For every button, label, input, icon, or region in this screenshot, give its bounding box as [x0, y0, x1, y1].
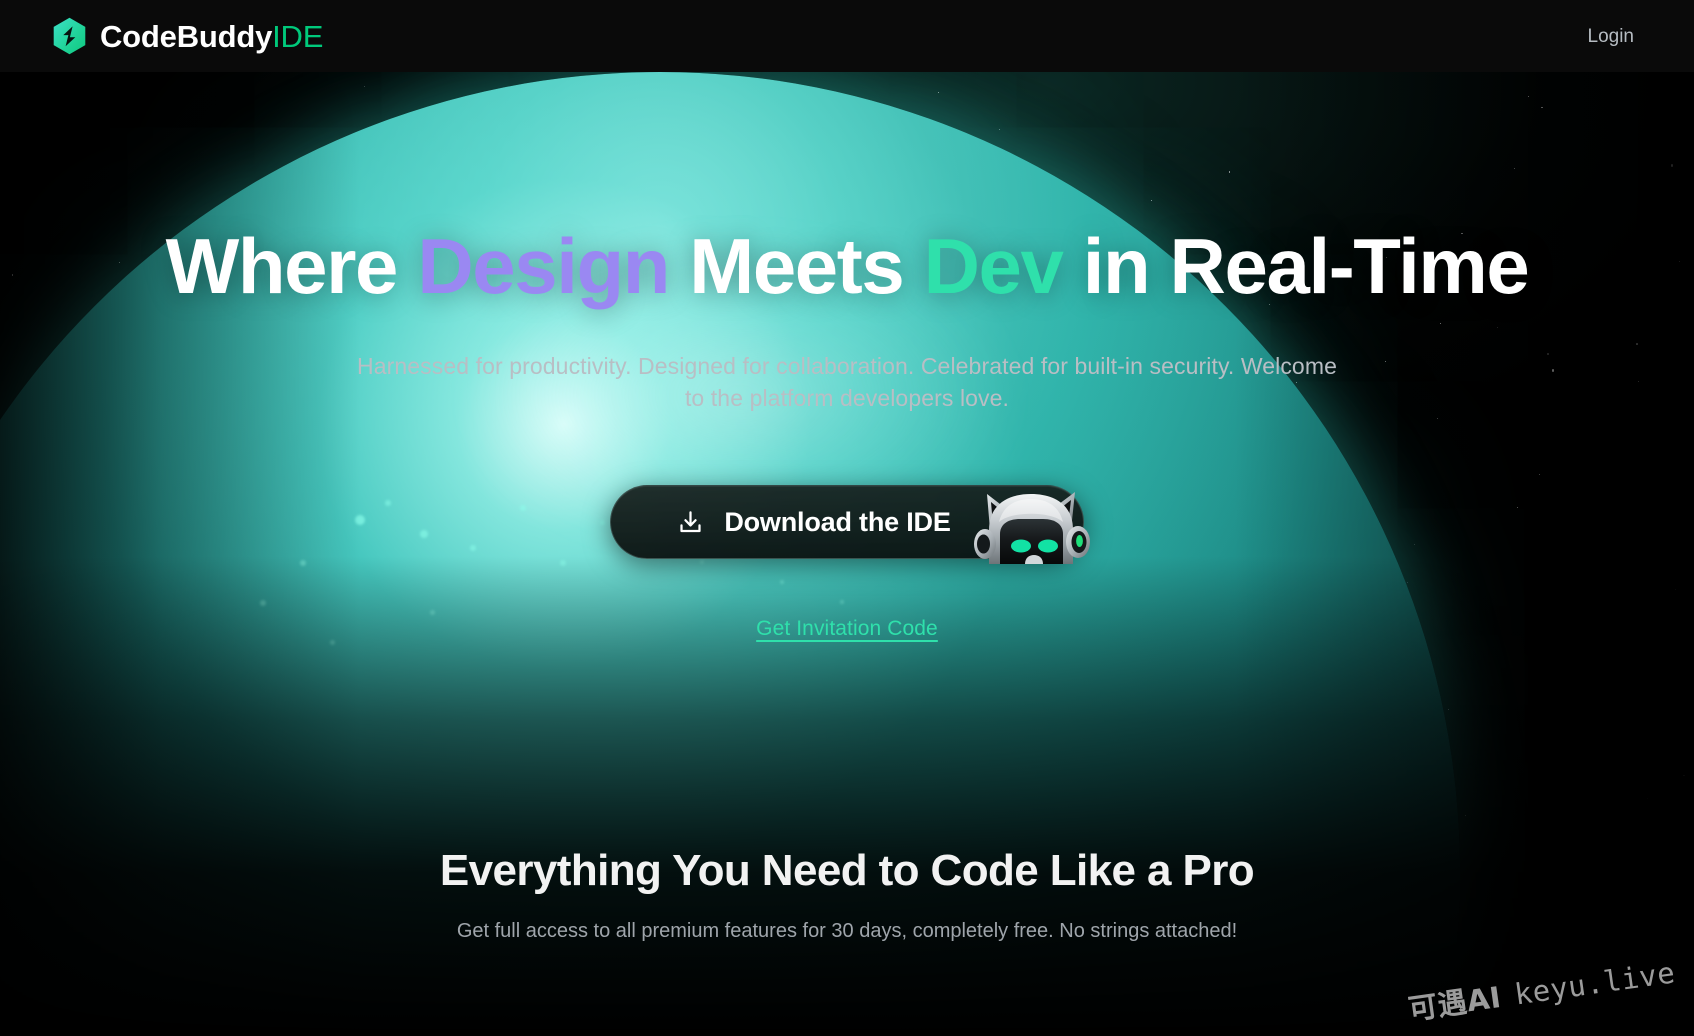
headline-highlight-design: Design	[417, 222, 669, 310]
headline-segment-3: in Real-Time	[1063, 222, 1529, 310]
hero-headline: Where Design Meets Dev in Real-Time	[0, 224, 1694, 310]
brand-name: CodeBuddyIDE	[100, 21, 323, 52]
hero-subheadline: Harnessed for productivity. Designed for…	[347, 350, 1347, 415]
download-ide-button[interactable]: Download the IDE	[610, 485, 1084, 559]
landing-page: CodeBuddyIDE Login Where Design Meets De…	[0, 0, 1694, 1036]
download-icon	[677, 509, 704, 536]
headline-segment-2: Meets	[669, 222, 924, 310]
cta-row: Download the IDE	[0, 485, 1694, 559]
features-section-subtitle: Get full access to all premium features …	[0, 920, 1694, 943]
headline-segment-1: Where	[166, 222, 418, 310]
invitation-row: Get Invitation Code	[0, 617, 1694, 641]
hero-section: Where Design Meets Dev in Real-Time Harn…	[0, 72, 1694, 892]
brand-name-primary: CodeBuddy	[100, 19, 272, 54]
codebuddy-hexagon-logo-icon	[52, 17, 87, 56]
download-ide-button-label: Download the IDE	[724, 507, 1016, 538]
headline-highlight-dev: Dev	[924, 222, 1063, 310]
brand-logo[interactable]: CodeBuddyIDE	[52, 17, 323, 56]
login-button[interactable]: Login	[1588, 27, 1635, 46]
brand-name-suffix: IDE	[272, 19, 323, 54]
top-navigation-bar: CodeBuddyIDE Login	[0, 0, 1694, 72]
features-section: Everything You Need to Code Like a Pro G…	[0, 846, 1694, 943]
get-invitation-code-link[interactable]: Get Invitation Code	[756, 617, 938, 640]
features-section-title: Everything You Need to Code Like a Pro	[0, 846, 1694, 896]
